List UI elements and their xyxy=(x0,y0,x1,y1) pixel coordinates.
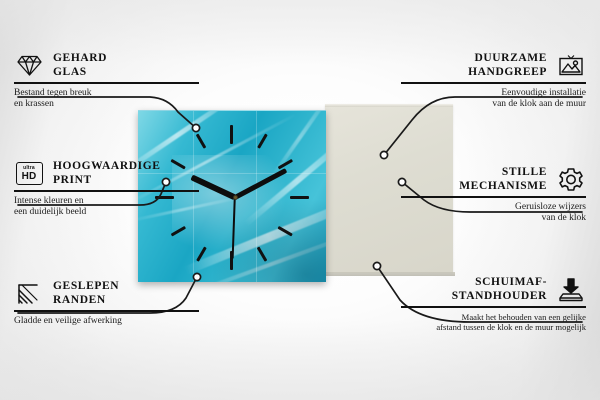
gear-icon xyxy=(556,167,586,193)
feature-description: Gladde en veilige afwerking xyxy=(14,316,199,328)
feature-stille-mechanisme: STILLE MECHANISME Geruisloze wijzers van… xyxy=(401,166,586,225)
feature-title: STILLE MECHANISME xyxy=(459,166,547,193)
hour-mark-12 xyxy=(230,125,233,144)
feature-rule xyxy=(14,82,199,84)
feature-geslepen-randen: GESLEPEN RANDEN Gladde en veilige afwerk… xyxy=(14,280,199,327)
feature-description: Intense kleuren en een duidelijk beeld xyxy=(14,196,199,219)
picture-frame-icon xyxy=(556,53,586,79)
feature-title: GESLEPEN RANDEN xyxy=(53,280,119,307)
glass-seam xyxy=(256,111,257,282)
feature-title: SCHUIMAF- STANDHOUDER xyxy=(452,276,547,303)
feature-header: GEHARD GLAS xyxy=(14,52,199,79)
feature-rule xyxy=(401,306,586,308)
ultra-hd-badge: ultra HD xyxy=(16,162,43,185)
feature-description: Bestand tegen breuk en krassen xyxy=(14,88,199,111)
infographic-canvas: GEHARD GLAS Bestand tegen breuk en krass… xyxy=(0,0,600,400)
feature-schuimafstandhouder: SCHUIMAF- STANDHOUDER Maakt het behouden… xyxy=(401,276,586,333)
feature-header: SCHUIMAF- STANDHOUDER xyxy=(401,276,586,303)
feature-duurzame-handgreep: DUURZAME HANDGREEP Eenvoudige installati… xyxy=(401,52,586,111)
hour-mark-3 xyxy=(290,196,309,199)
feature-hoogwaardige-print: ultra HD HOOGWAARDIGE PRINT Intense kleu… xyxy=(14,160,199,219)
feature-title: DUURZAME HANDGREEP xyxy=(468,52,547,79)
feature-description: Maakt het behouden van een gelijke afsta… xyxy=(401,312,586,333)
hands-center-cap xyxy=(233,195,238,200)
feature-gehard-glas: GEHARD GLAS Bestand tegen breuk en krass… xyxy=(14,52,199,111)
feature-rule xyxy=(14,310,199,312)
feature-title: GEHARD GLAS xyxy=(53,52,107,79)
ultra-hd-badge-ultra: ultra xyxy=(23,166,35,171)
diamond-icon xyxy=(14,53,44,79)
ultra-hd-icon: ultra HD xyxy=(14,161,44,187)
feature-description: Geruisloze wijzers van de klok xyxy=(401,202,586,225)
feature-title: HOOGWAARDIGE PRINT xyxy=(53,160,161,187)
feature-rule xyxy=(14,190,199,192)
feature-header: DUURZAME HANDGREEP xyxy=(401,52,586,79)
feature-header: STILLE MECHANISME xyxy=(401,166,586,193)
feature-header: GESLEPEN RANDEN xyxy=(14,280,199,307)
feature-description: Eenvoudige installatie van de klok aan d… xyxy=(401,88,586,111)
press-down-pad-icon xyxy=(556,277,586,303)
hour-mark-11 xyxy=(196,133,206,148)
feature-header: ultra HD HOOGWAARDIGE PRINT xyxy=(14,160,199,187)
feature-rule xyxy=(401,82,586,84)
feature-rule xyxy=(401,196,586,198)
beveled-edges-icon xyxy=(14,281,44,307)
ultra-hd-badge-hd: HD xyxy=(22,172,37,182)
